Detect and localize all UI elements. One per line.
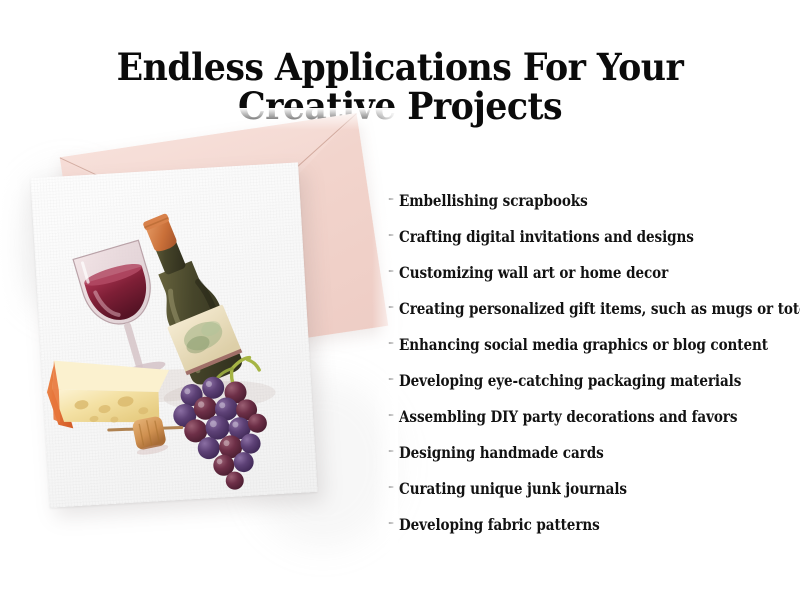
benefit-item: -Developing eye-catching packaging mater…: [388, 372, 792, 408]
benefit-item: -Creating personalized gift items, such …: [388, 300, 792, 336]
page-title: Endless Applications For Your Creative P…: [0, 48, 800, 126]
benefit-item-label: Curating unique junk journals: [399, 480, 627, 498]
page-title-line-1: Endless Applications For Your: [24, 48, 776, 87]
benefit-item: -Customizing wall art or home decor: [388, 264, 792, 300]
benefit-item-label: Developing fabric patterns: [399, 516, 600, 534]
benefit-bullet-dash: -: [388, 261, 399, 279]
wine-and-cheese-illustration: [30, 162, 317, 507]
benefit-item: -Designing handmade cards: [388, 444, 792, 480]
product-photo: [18, 128, 378, 580]
benefit-item-label: Designing handmade cards: [399, 444, 604, 462]
benefit-bullet-dash: -: [388, 297, 399, 315]
benefit-item-label: Creating personalized gift items, such a…: [399, 300, 800, 318]
benefit-bullet-dash: -: [388, 405, 399, 423]
benefit-item: -Enhancing social media graphics or blog…: [388, 336, 792, 372]
benefit-bullet-dash: -: [388, 333, 399, 351]
benefit-bullet-dash: -: [388, 225, 399, 243]
benefit-item: -Developing fabric patterns: [388, 516, 792, 552]
benefit-item-label: Developing eye-catching packaging materi…: [399, 372, 741, 390]
benefit-item-label: Enhancing social media graphics or blog …: [399, 336, 768, 354]
greeting-card: [30, 162, 317, 507]
benefit-bullet-dash: -: [388, 189, 399, 207]
benefit-item: -Crafting digital invitations and design…: [388, 228, 792, 264]
benefit-item-label: Crafting digital invitations and designs: [399, 228, 694, 246]
poster-canvas: Endless Applications For Your Creative P…: [0, 0, 800, 600]
benefit-bullet-dash: -: [388, 369, 399, 387]
benefit-item: -Embellishing scrapbooks: [388, 192, 792, 228]
benefit-item-label: Embellishing scrapbooks: [399, 192, 588, 210]
benefit-bullet-dash: -: [388, 513, 399, 531]
benefit-item-label: Customizing wall art or home decor: [399, 264, 668, 282]
benefit-item: -Curating unique junk journals: [388, 480, 792, 516]
benefit-item: -Assembling DIY party decorations and fa…: [388, 408, 792, 444]
benefits-list: -Embellishing scrapbooks-Crafting digita…: [388, 192, 792, 552]
page-title-line-2: Creative Projects: [24, 87, 776, 126]
benefit-item-label: Assembling DIY party decorations and fav…: [399, 408, 737, 426]
